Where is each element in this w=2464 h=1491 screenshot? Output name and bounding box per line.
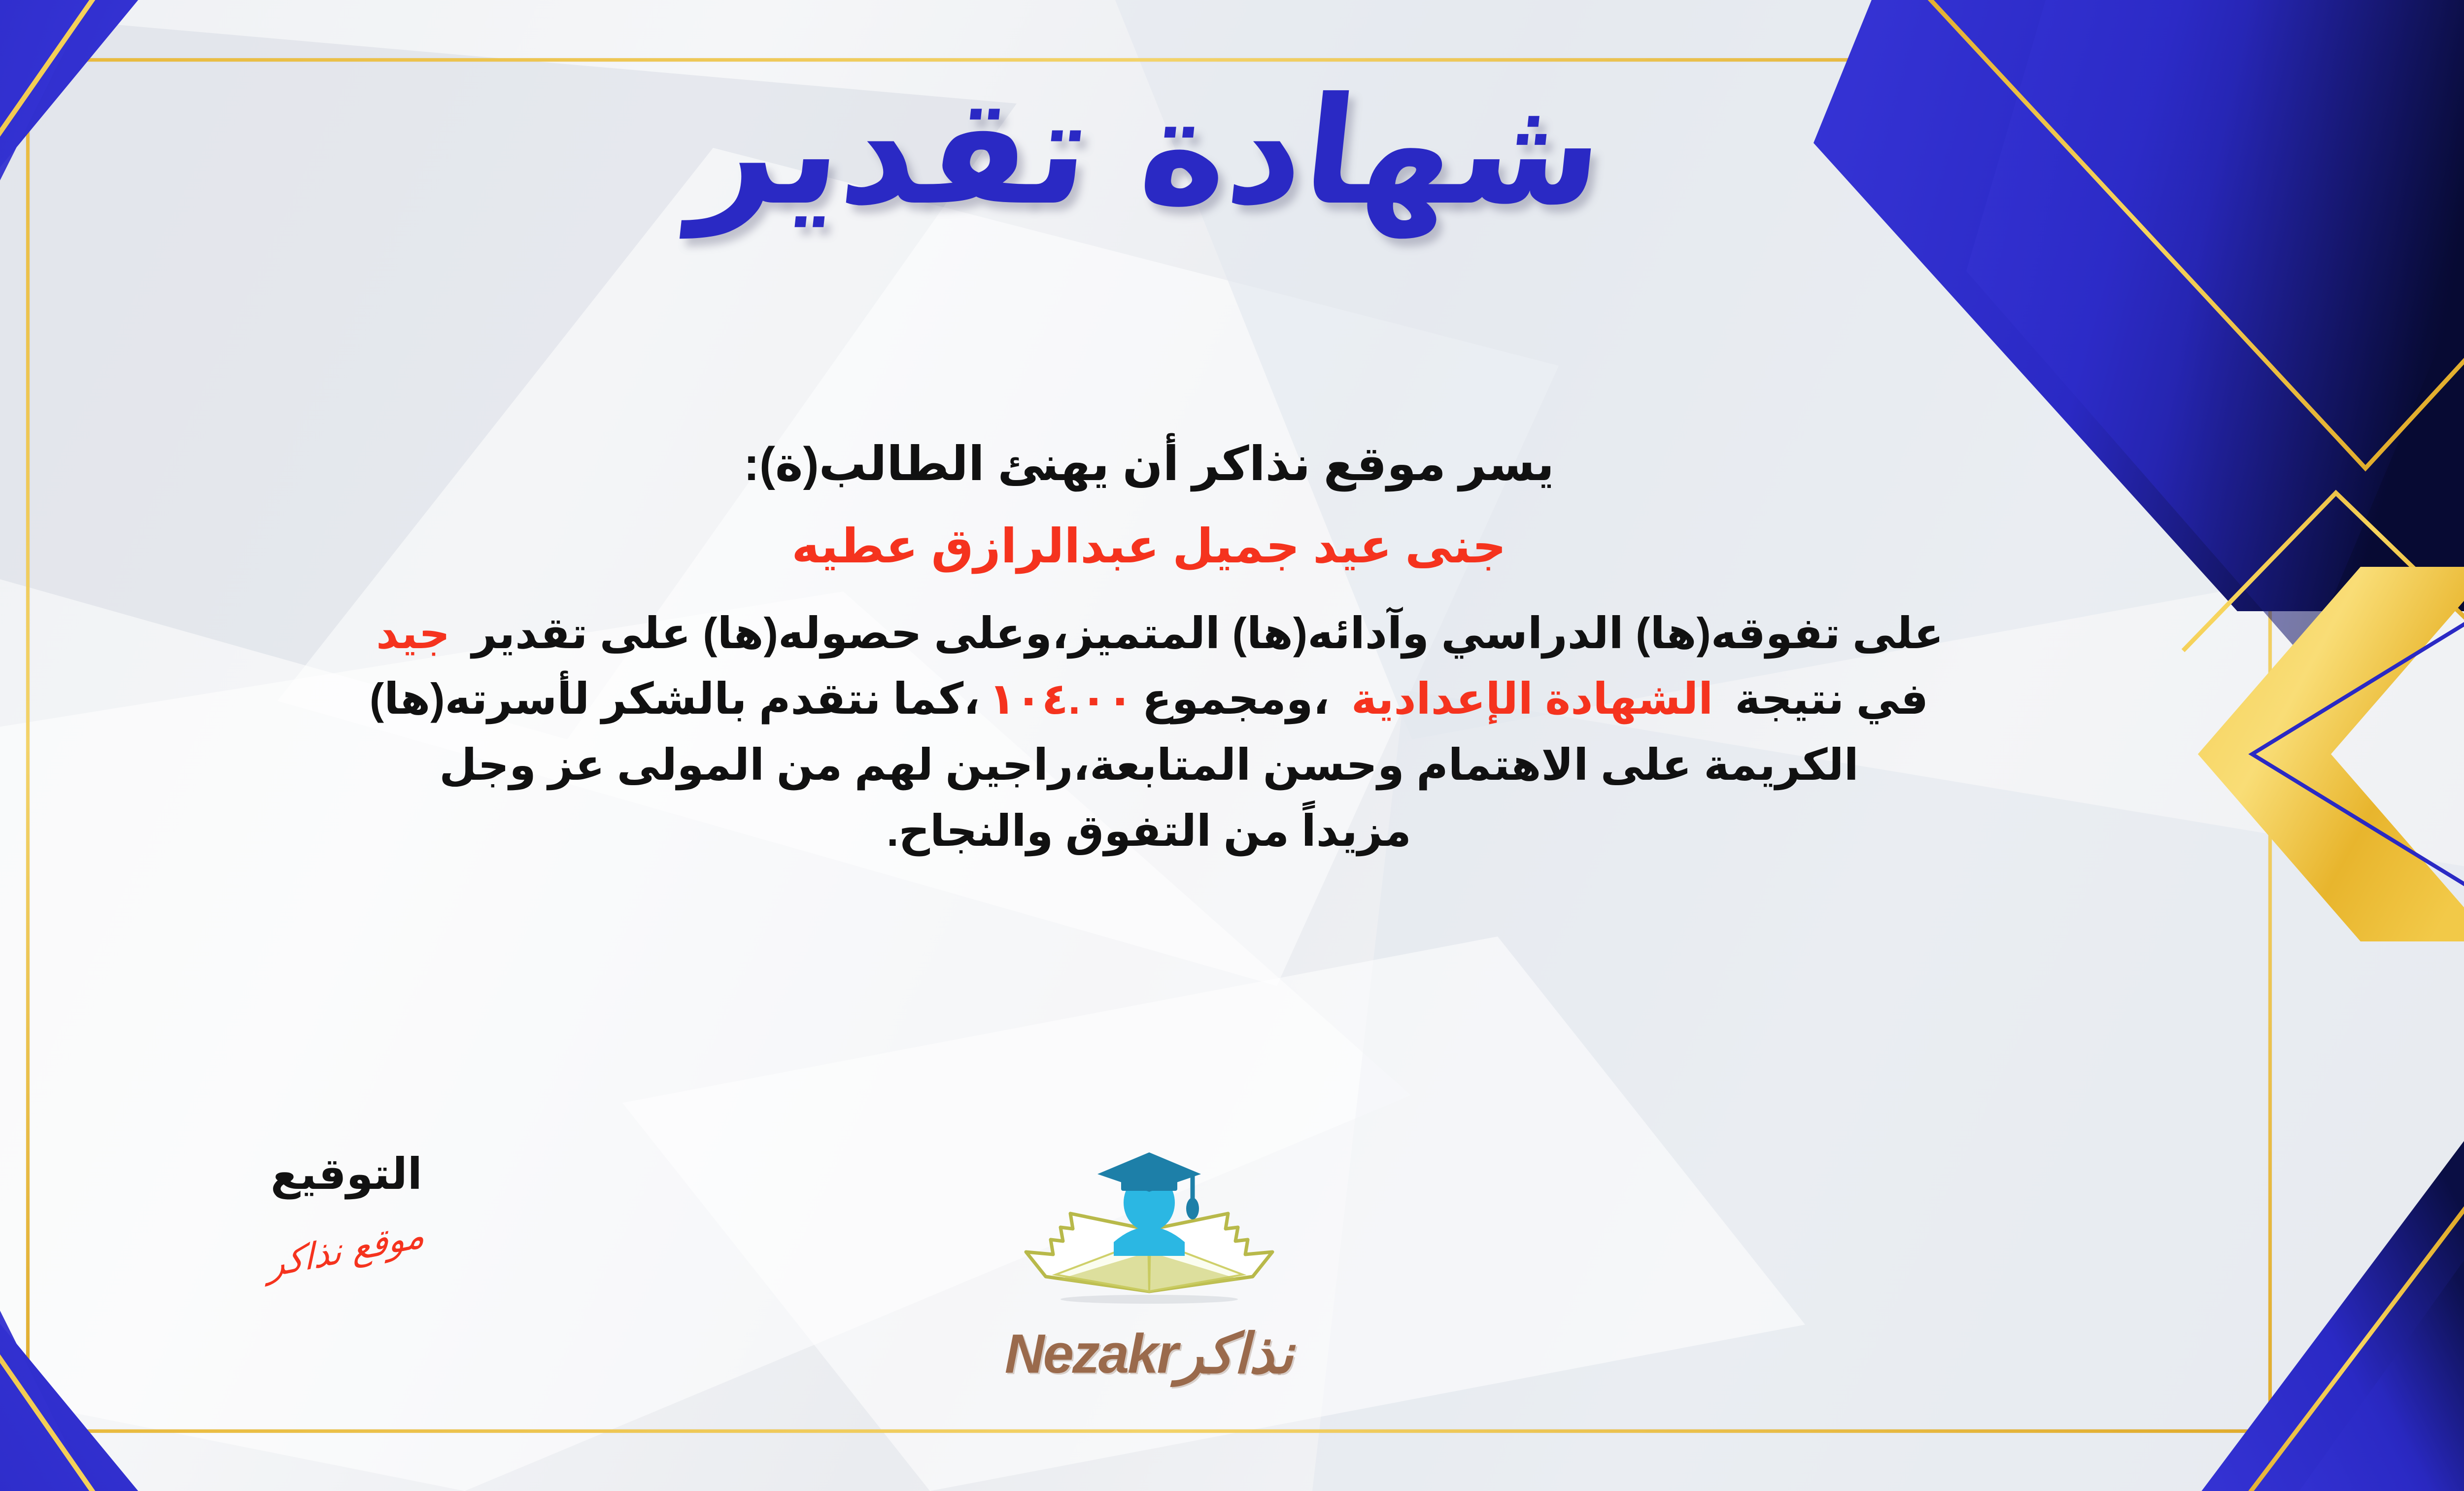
paragraph-line2-mid: ،ومجموع [1142, 674, 1330, 723]
congratulation-lead-line: يسر موقع نذاكر أن يهنئ الطالب(ة): [0, 434, 2316, 495]
certificate-title-wrap: شهادة تقدير [0, 59, 2464, 244]
grade-value: جيد [354, 609, 472, 658]
paragraph-line2-suffix: ،كما نتقدم بالشكر لأسرته(ها) [370, 674, 980, 723]
certificate-body: يسر موقع نذاكر أن يهنئ الطالب(ة): جنى عي… [0, 434, 2316, 864]
brand-logo-block: Nezakrنذاكر [0, 1129, 2464, 1386]
paragraph-line2-prefix: في نتيجة [1735, 674, 1928, 723]
paragraph-line1-text: على تفوقه(ها) الدراسي وآدائه(ها) المتميز… [472, 609, 1944, 658]
frame-line-bottom [26, 1429, 2272, 1433]
certificate-paragraph: على تفوقه(ها) الدراسي وآدائه(ها) المتميز… [0, 600, 2316, 864]
exam-name: الشهادة الإعدادية [1330, 674, 1735, 723]
brand-logo-text: Nezakrنذاكر [1005, 1322, 1294, 1386]
total-score: ١٠٤.٠٠ [980, 674, 1142, 723]
paragraph-line4: مزيداً من التفوق والنجاح. [887, 806, 1411, 855]
certificate-title: شهادة تقدير [685, 59, 1613, 244]
graduate-book-logo-icon [1016, 1129, 1282, 1326]
paragraph-line3: الكريمة على الاهتمام وحسن المتابعة،راجين… [439, 740, 1859, 789]
certificate-page: شهادة تقدير يسر موقع نذاكر أن يهنئ الطال… [0, 0, 2464, 1491]
student-name: جنى عيد جميل عبدالرازق عطيه [0, 516, 2316, 578]
